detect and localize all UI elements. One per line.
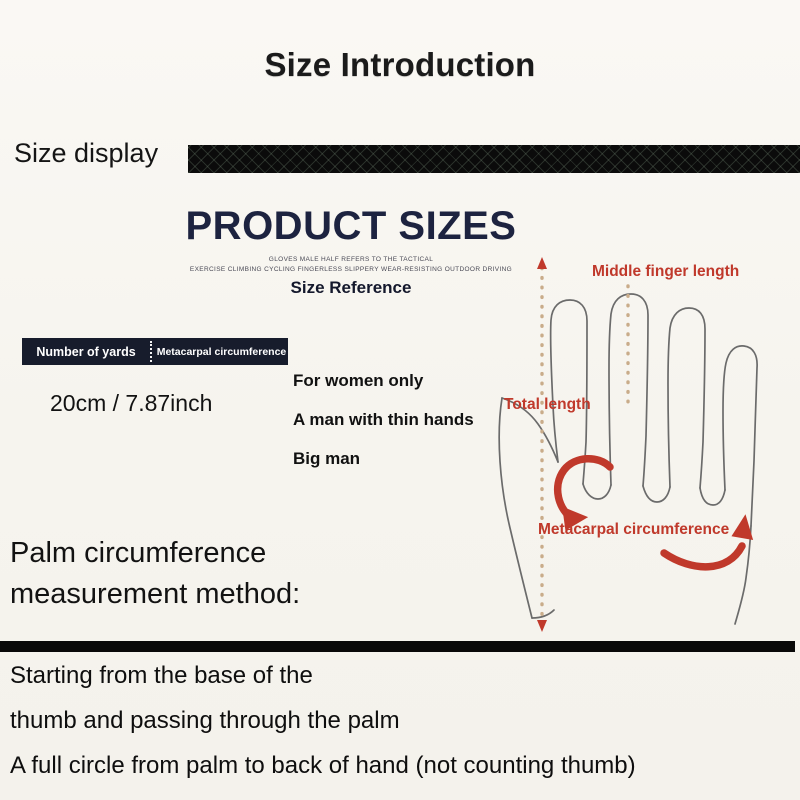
annotation-metacarpal-circumference: Metacarpal circumference — [538, 521, 730, 538]
annotation-total-length: Total length — [504, 396, 591, 413]
size-introduction-page: Size Introduction Size display PRODUCT S… — [0, 0, 800, 800]
list-item: A full circle from palm to back of hand … — [10, 754, 800, 778]
table-header-divider — [150, 341, 152, 362]
product-sizes-block: PRODUCT SIZES GLOVES MALE HALF REFERS TO… — [176, 206, 526, 298]
palm-method-heading-line-2: measurement method: — [10, 574, 530, 615]
annotation-middle-finger-length: Middle finger length — [592, 263, 739, 280]
palm-method-heading-line-1: Palm circumference — [10, 533, 530, 574]
product-subtitle-line-2: EXERCISE CLIMBING CYCLING FINGERLESS SLI… — [176, 265, 526, 275]
table-header-metacarpal-circumference: Metacarpal circumference — [152, 346, 288, 358]
product-sizes-subtitle: GLOVES MALE HALF REFERS TO THE TACTICAL … — [176, 255, 526, 275]
size-display-label: Size display — [14, 138, 158, 169]
palm-method-heading: Palm circumference measurement method: — [10, 533, 530, 615]
table-row-measurement-value: 20cm / 7.87inch — [50, 390, 212, 417]
table-header-number-of-yards: Number of yards — [22, 345, 150, 359]
size-display-row: Size display — [0, 137, 800, 177]
size-reference-label: Size Reference — [176, 278, 526, 298]
page-title: Size Introduction — [0, 46, 800, 84]
list-item: Starting from the base of the — [10, 664, 800, 688]
size-table-header: Number of yards Metacarpal circumference — [22, 338, 288, 365]
product-sizes-title: PRODUCT SIZES — [176, 206, 526, 246]
list-item: thumb and passing through the palm — [10, 709, 800, 733]
total-length-guide — [537, 257, 547, 632]
palm-method-steps: Starting from the base of the thumb and … — [10, 664, 800, 778]
product-subtitle-line-1: GLOVES MALE HALF REFERS TO THE TACTICAL — [176, 255, 526, 265]
section-divider — [0, 641, 795, 652]
size-display-bar — [188, 145, 800, 173]
